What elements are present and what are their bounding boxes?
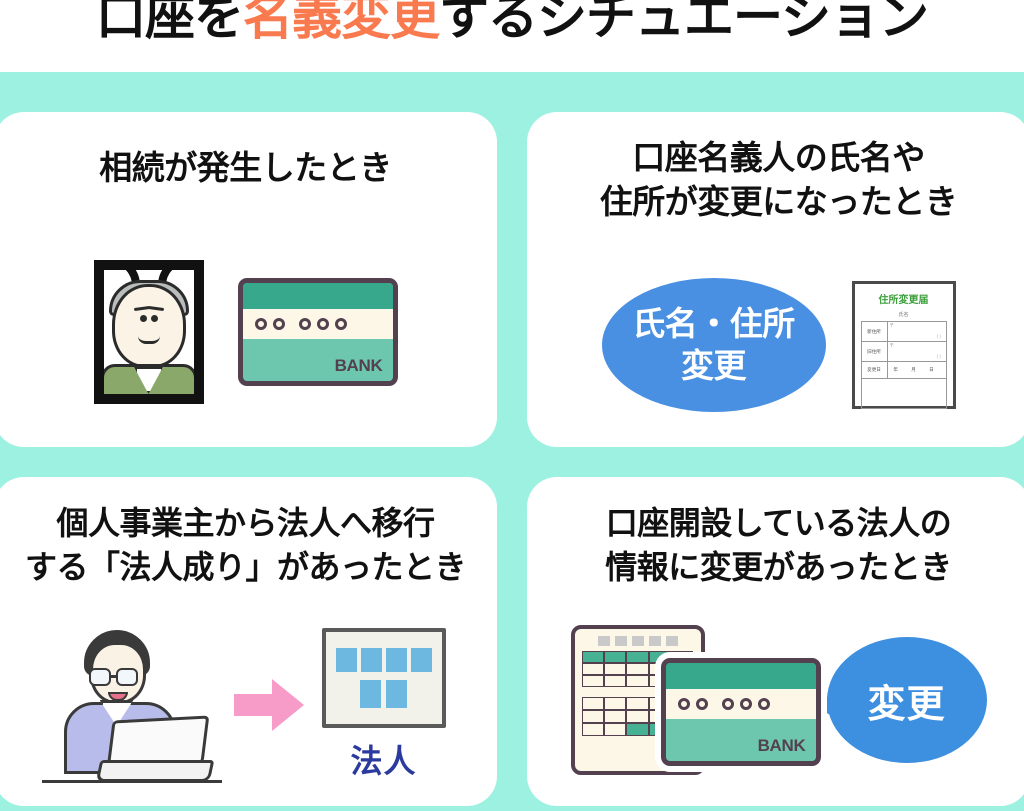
portrait-head	[112, 284, 186, 368]
ledger-cell	[604, 697, 626, 710]
building-window	[386, 680, 407, 708]
card-title-line: 個人事業主から法人へ移行	[0, 501, 497, 545]
form-row: 旧住所 〒 （ ）	[861, 342, 946, 362]
card-title-line: 口座開設している法人の	[527, 501, 1024, 545]
passbook-dot	[335, 318, 347, 330]
ledger-tab	[615, 636, 627, 646]
ledger-cell	[604, 663, 626, 675]
badge-text: 氏名・住所 変更	[632, 303, 795, 387]
form-postal-mark: 〒	[890, 323, 894, 328]
corporation-block: 法人	[314, 628, 454, 782]
form-phone-note: （ ）	[890, 354, 944, 360]
bank-passbook-icon: BANK	[238, 278, 398, 386]
ledger-cell	[582, 651, 604, 663]
ledger-cell	[582, 697, 604, 710]
building-window	[336, 648, 357, 672]
building-window	[360, 680, 381, 708]
transition-arrow-icon	[234, 677, 304, 733]
passbook-top-band	[666, 663, 816, 689]
passbook-number-strip	[243, 309, 393, 339]
building-window	[411, 648, 432, 672]
ledger-cell	[626, 651, 648, 663]
ledger-cell	[604, 651, 626, 663]
ledger-tab	[632, 636, 644, 646]
card-name-address-change-title: 口座名義人の氏名や 住所が変更になったとき	[527, 112, 1024, 224]
card-title-line: 口座名義人の氏名や	[527, 136, 1024, 180]
laptop-keyboard-icon	[95, 760, 214, 782]
ledger-cell	[582, 675, 604, 687]
glasses-left-lens-icon	[89, 668, 111, 686]
form-row-label: 新住所	[861, 322, 887, 342]
passbook-top-band	[243, 283, 393, 309]
card-title-line: する「法人成り」があったとき	[0, 545, 497, 589]
card-title-line: 相続が発生したとき	[0, 146, 497, 190]
building-window	[361, 648, 382, 672]
ledger-cell	[626, 663, 648, 675]
glasses-bridge	[111, 675, 116, 678]
badge-line: 変更	[632, 345, 795, 387]
passbook-dot	[273, 318, 285, 330]
ledger-cell	[604, 723, 626, 736]
card-corporate-info-change-art: BANK 変更	[527, 605, 1024, 795]
card-corporate-info-change[interactable]: 口座開設している法人の 情報に変更があったとき	[527, 477, 1024, 806]
form-phone-note: （ ）	[890, 334, 944, 340]
ledger-tab	[649, 636, 661, 646]
form-title: 住所変更届	[861, 291, 947, 306]
portrait-eye-right	[151, 315, 158, 322]
page-header: 口座を名義変更するシチュエーション	[0, 0, 1024, 72]
ledger-tab-row	[575, 629, 701, 646]
building-window	[386, 648, 407, 672]
ledger-cell	[582, 663, 604, 675]
bank-passbook-icon: BANK	[661, 658, 821, 766]
portrait-eye-left	[140, 315, 147, 322]
ledger-cell	[604, 710, 626, 723]
page-title-suffix: するシチュエーション	[439, 0, 928, 45]
passbook-dot	[758, 698, 770, 710]
card-title-line: 住所が変更になったとき	[527, 180, 1024, 224]
form-row: 新住所 〒 （ ）	[861, 322, 946, 342]
page-title-prefix: 口座を	[96, 0, 243, 45]
building-window-row-bottom	[360, 680, 407, 708]
ledger-cell	[582, 710, 604, 723]
card-name-address-change[interactable]: 口座名義人の氏名や 住所が変更になったとき 氏名・住所 変更 住所変更届 氏名 …	[527, 112, 1024, 447]
passbook-brand-label: BANK	[758, 736, 806, 756]
glasses-right-lens-icon	[116, 668, 138, 686]
sole-proprietor-icon	[38, 620, 224, 790]
ledger-tab	[666, 636, 678, 646]
ledger-cell	[626, 697, 648, 710]
form-free-area	[861, 379, 947, 409]
form-row-dates: 年 月 日	[887, 362, 946, 379]
corporation-label: 法人	[314, 736, 454, 782]
passbook-dot	[722, 698, 734, 710]
building-window-row-top	[336, 648, 432, 672]
badge-line: 氏名・住所	[632, 303, 795, 345]
form-row-label: 変更日	[861, 362, 887, 379]
card-title-line: 情報に変更があったとき	[527, 545, 1024, 589]
card-name-address-change-art: 氏名・住所 変更 住所変更届 氏名 新住所 〒 （ ）	[527, 260, 1024, 430]
ledger-cell	[626, 710, 648, 723]
page-title: 口座を名義変更するシチュエーション	[96, 0, 928, 45]
desk-line	[42, 780, 222, 783]
card-incorporation-art: 法人	[0, 605, 497, 805]
ledger-cell	[626, 723, 648, 736]
address-change-form-icon: 住所変更届 氏名 新住所 〒 （ ） 旧住所 〒 （	[852, 281, 956, 409]
form-row: 変更日 年 月 日	[861, 362, 946, 379]
speech-bubble-text: 変更	[827, 637, 987, 763]
form-row-label: 旧住所	[861, 342, 887, 362]
passbook-dot	[255, 318, 267, 330]
card-incorporation[interactable]: 個人事業主から法人へ移行 する「法人成り」があったとき	[0, 477, 497, 806]
passbook-dot	[696, 698, 708, 710]
passbook-brand-label: BANK	[335, 356, 383, 376]
form-postal-mark: 〒	[890, 343, 894, 348]
card-inheritance-title: 相続が発生したとき	[0, 112, 497, 190]
card-incorporation-title: 個人事業主から法人へ移行 する「法人成り」があったとき	[0, 477, 497, 589]
ledger-cell	[626, 675, 648, 687]
name-address-change-badge: 氏名・住所 変更	[602, 278, 826, 412]
form-row-value: 〒 （ ）	[887, 342, 946, 362]
passbook-dot	[299, 318, 311, 330]
passbook-number-strip	[666, 689, 816, 719]
form-table: 新住所 〒 （ ） 旧住所 〒 （ ）	[861, 321, 947, 379]
office-building-icon	[322, 628, 446, 728]
ledger-tab	[598, 636, 610, 646]
form-subtitle: 氏名	[861, 311, 947, 318]
card-inheritance-art: BANK	[0, 252, 497, 412]
change-speech-bubble: 変更	[827, 637, 987, 763]
situation-card-grid: 相続が発生したとき	[0, 112, 1024, 806]
page-title-accent: 名義変更	[243, 0, 439, 45]
card-inheritance[interactable]: 相続が発生したとき	[0, 112, 497, 447]
passbook-dot	[317, 318, 329, 330]
passbook-dot	[678, 698, 690, 710]
ledger-cell	[604, 675, 626, 687]
card-corporate-info-change-title: 口座開設している法人の 情報に変更があったとき	[527, 477, 1024, 589]
form-row-value: 〒 （ ）	[887, 322, 946, 342]
ledger-cell	[582, 723, 604, 736]
memorial-portrait-icon	[94, 260, 204, 404]
passbook-dot	[740, 698, 752, 710]
